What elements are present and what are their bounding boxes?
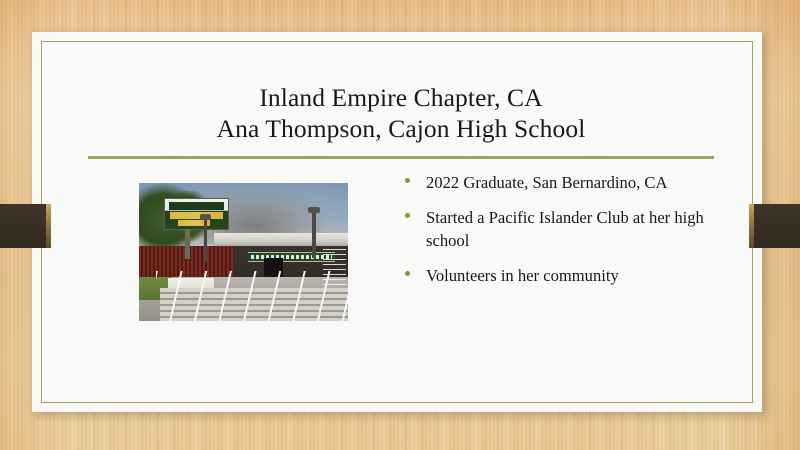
photo-sign-line-1 <box>170 212 223 219</box>
photo-roof <box>214 233 348 247</box>
title-line-1: Inland Empire Chapter, CA <box>88 82 714 113</box>
photo-school-name-text <box>251 255 332 259</box>
photo-sign-header <box>169 202 224 210</box>
ribbon-right <box>749 204 800 248</box>
bullet-item-2: Started a Pacific Islander Club at her h… <box>398 206 714 253</box>
bullet-dot-icon <box>398 264 426 288</box>
ribbon-left-tip <box>46 204 51 248</box>
ribbon-left <box>0 204 51 248</box>
photo-sign-post <box>185 229 190 259</box>
bullet-text-3: Volunteers in her community <box>426 266 619 285</box>
bullet-list: 2022 Graduate, San Bernardino, CA Starte… <box>398 171 714 287</box>
bullet-dot-icon <box>398 171 426 195</box>
bullet-item-3: Volunteers in her community <box>398 264 714 288</box>
title-divider-rule <box>88 156 714 159</box>
school-photo <box>139 183 348 321</box>
page-title: Inland Empire Chapter, CA Ana Thompson, … <box>88 82 714 144</box>
bullet-dot-icon <box>398 206 426 230</box>
photo-lamp-post-right <box>312 211 315 258</box>
bullet-item-1: 2022 Graduate, San Bernardino, CA <box>398 171 714 195</box>
bullet-text-1: 2022 Graduate, San Bernardino, CA <box>426 173 667 192</box>
photo-lamp-post-left <box>204 218 207 262</box>
slide-canvas: Inland Empire Chapter, CA Ana Thompson, … <box>0 0 800 450</box>
title-line-2: Ana Thompson, Cajon High School <box>88 113 714 144</box>
photo-handrail-right <box>323 249 346 288</box>
photo-welcome-sign <box>164 198 229 230</box>
ribbon-right-tip <box>749 204 754 248</box>
photo-handrails <box>156 271 348 321</box>
bullet-text-2: Started a Pacific Islander Club at her h… <box>426 208 704 251</box>
